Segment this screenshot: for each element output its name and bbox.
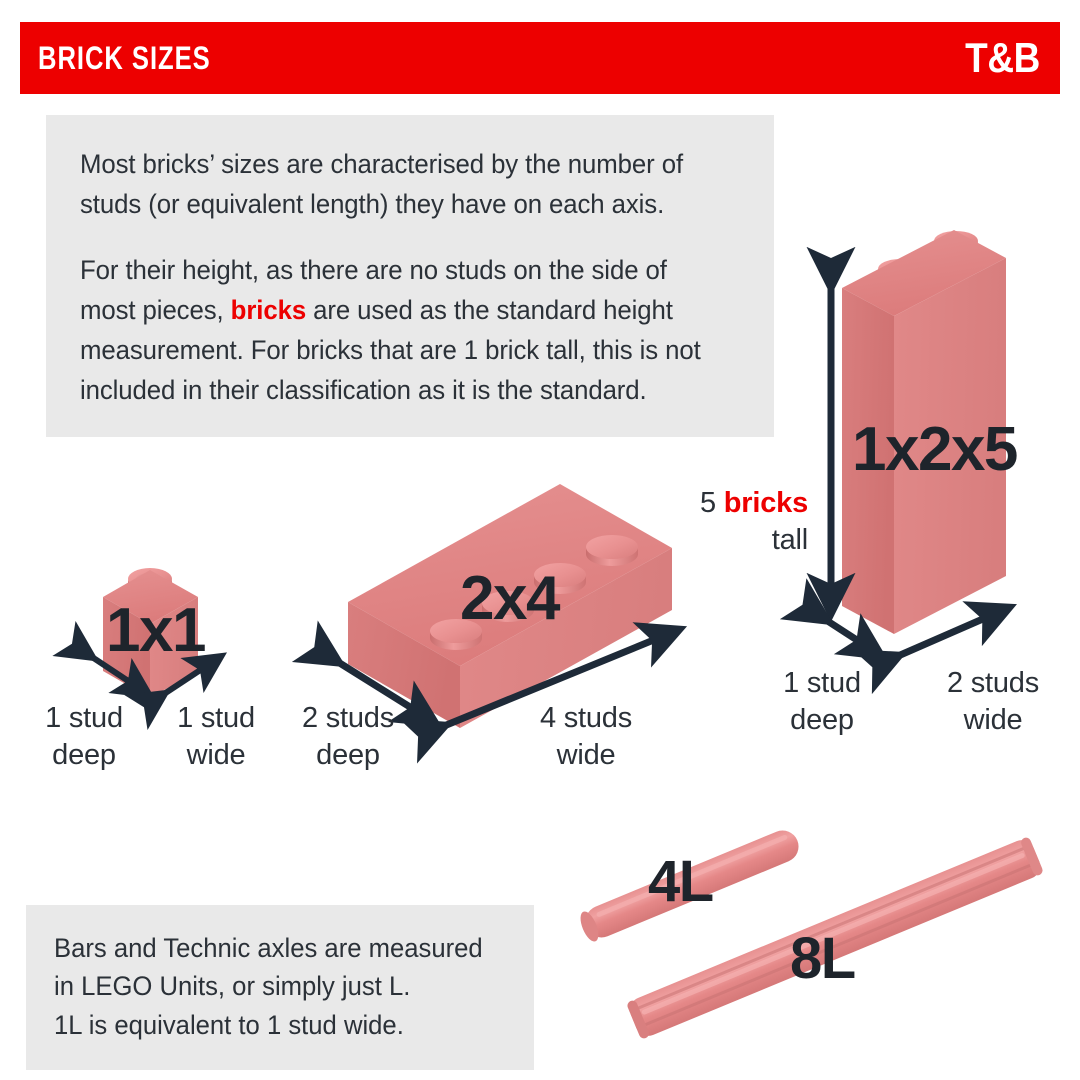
size-caption-1x2x5: 1x2x5 — [852, 414, 1017, 485]
height-label-highlight: bricks — [724, 487, 808, 519]
height-label-number: 5 — [700, 487, 724, 519]
infographic-page: BRICK SIZES T&B Most bricks’ sizes are c… — [0, 0, 1080, 1080]
dimension-label-1x1-width: 1 stud wide — [146, 700, 286, 774]
dimension-label-1x2x5-height: 5 brickstall — [676, 485, 808, 559]
dimension-label-1x2x5-depth: 1 stud deep — [752, 665, 892, 739]
size-caption-1x1: 1x1 — [106, 595, 205, 666]
dimension-label-1x1-depth: 1 stud deep — [14, 700, 154, 774]
dimension-label-1x2x5-width: 2 studs wide — [920, 665, 1066, 739]
size-caption-8L: 8L — [790, 925, 855, 992]
size-caption-4L: 4L — [648, 848, 713, 915]
dimension-label-2x4-depth: 2 studs deep — [268, 700, 428, 774]
dimension-label-2x4-width: 4 studs wide — [506, 700, 666, 774]
size-caption-2x4: 2x4 — [460, 563, 559, 634]
illustrations-layer — [0, 0, 1080, 1080]
height-label-tail: tall — [772, 524, 808, 556]
arrow-1x2x5-depth — [826, 620, 880, 655]
